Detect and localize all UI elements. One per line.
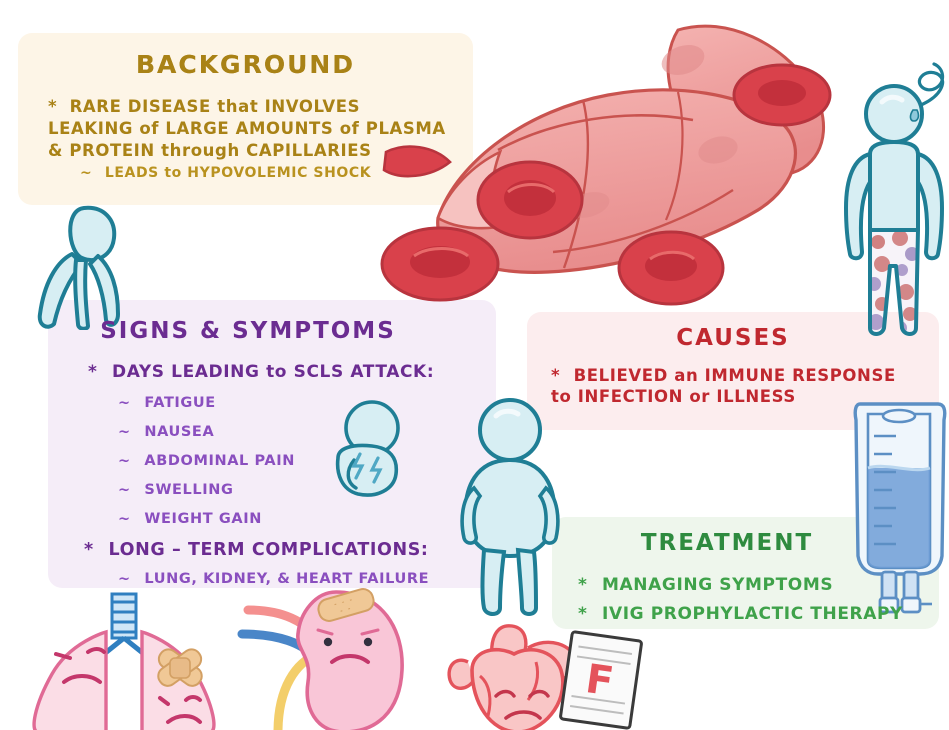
symptom-label: FATIGUE	[144, 395, 215, 411]
symptoms-title: SIGNS & SYMPTOMS	[48, 318, 448, 344]
symptom-bullet: ~	[118, 395, 131, 411]
background-body-row: * RARE DISEASE that INVOLVES LEAKING of …	[48, 96, 448, 162]
infographic-canvas: F BACKGROUND * RARE DISEASE that INVOLVE…	[0, 0, 949, 730]
symptom-item-4: ~ WEIGHT GAIN	[118, 511, 262, 527]
background-sub-row: ~ LEADS to HYPOVOLEMIC SHOCK	[80, 165, 410, 182]
background-sub-text: LEADS to HYPOVOLEMIC SHOCK	[105, 165, 371, 181]
treatment-item-0: * MANAGING SYMPTOMS	[578, 575, 833, 595]
symptom-item-3: ~ SWELLING	[118, 482, 233, 498]
symptoms-lead-row: * DAYS LEADING to SCLS ATTACK:	[88, 362, 434, 382]
treatment-label: MANAGING SYMPTOMS	[602, 575, 833, 595]
red-blood-cell	[619, 232, 723, 304]
sad-kidney-illustration	[232, 588, 432, 730]
symptom-bullet: ~	[118, 424, 131, 440]
sad-lungs-illustration	[8, 592, 244, 730]
causes-bullet: *	[551, 366, 560, 385]
slumped-tired-figure-illustration	[26, 198, 138, 330]
red-blood-cell	[478, 162, 582, 238]
causes-title: CAUSES	[527, 325, 939, 351]
background-title: BACKGROUND	[18, 50, 473, 79]
symptom-item-1: ~ NAUSEA	[118, 424, 214, 440]
red-blood-cell	[734, 65, 830, 125]
sad-heart-with-report-card-illustration: F	[432, 618, 648, 730]
symptom-label: LUNG, KIDNEY, & HEART FAILURE	[144, 571, 429, 587]
symptom-bullet: ~	[118, 453, 131, 469]
symptoms-longterm-text: LONG – TERM COMPLICATIONS:	[108, 540, 428, 560]
treatment-label: IVIG PROPHYLACTIC THERAPY	[602, 604, 903, 624]
abdominal-pain-figure-illustration	[316, 396, 416, 508]
symptom-bullet: ~	[118, 482, 131, 498]
swollen-body-figure-illustration	[452, 392, 570, 622]
treatment-bullet: *	[578, 604, 588, 624]
causes-body-row: * BELIEVED an IMMUNE RESPONSE to INFECTI…	[551, 365, 921, 408]
treatment-title: TREATMENT	[552, 530, 902, 556]
background-bullet: *	[48, 97, 57, 116]
iv-fluid-bag-illustration	[846, 396, 949, 618]
symptom-label: SWELLING	[144, 482, 233, 498]
symptoms-lead-text: DAYS LEADING to SCLS ATTACK:	[112, 362, 434, 382]
symptom-label: NAUSEA	[144, 424, 214, 440]
symptoms-longterm-item: ~ LUNG, KIDNEY, & HEART FAILURE	[118, 571, 429, 587]
symptoms-bullet: *	[88, 362, 98, 382]
symptoms-longterm-bullet: *	[84, 540, 94, 560]
symptom-item-2: ~ ABDOMINAL PAIN	[118, 453, 295, 469]
symptoms-longterm-row: * LONG – TERM COMPLICATIONS:	[84, 540, 429, 561]
symptom-label: ABDOMINAL PAIN	[144, 453, 295, 469]
symptom-bullet: ~	[118, 571, 131, 587]
causes-body-text: BELIEVED an IMMUNE RESPONSE to INFECTION…	[551, 366, 896, 406]
treatment-item-1: * IVIG PROPHYLACTIC THERAPY	[578, 604, 903, 624]
background-sub-bullet: ~	[80, 165, 92, 181]
symptom-label: WEIGHT GAIN	[144, 511, 262, 527]
treatment-bullet: *	[578, 575, 588, 595]
symptom-bullet: ~	[118, 511, 131, 527]
dizzy-figure-with-leg-petechiae-illustration	[838, 58, 949, 342]
symptom-item-0: ~ FATIGUE	[118, 395, 216, 411]
report-card: F	[560, 632, 642, 729]
background-body-text: RARE DISEASE that INVOLVES LEAKING of LA…	[48, 97, 446, 160]
red-blood-cell	[382, 228, 498, 300]
